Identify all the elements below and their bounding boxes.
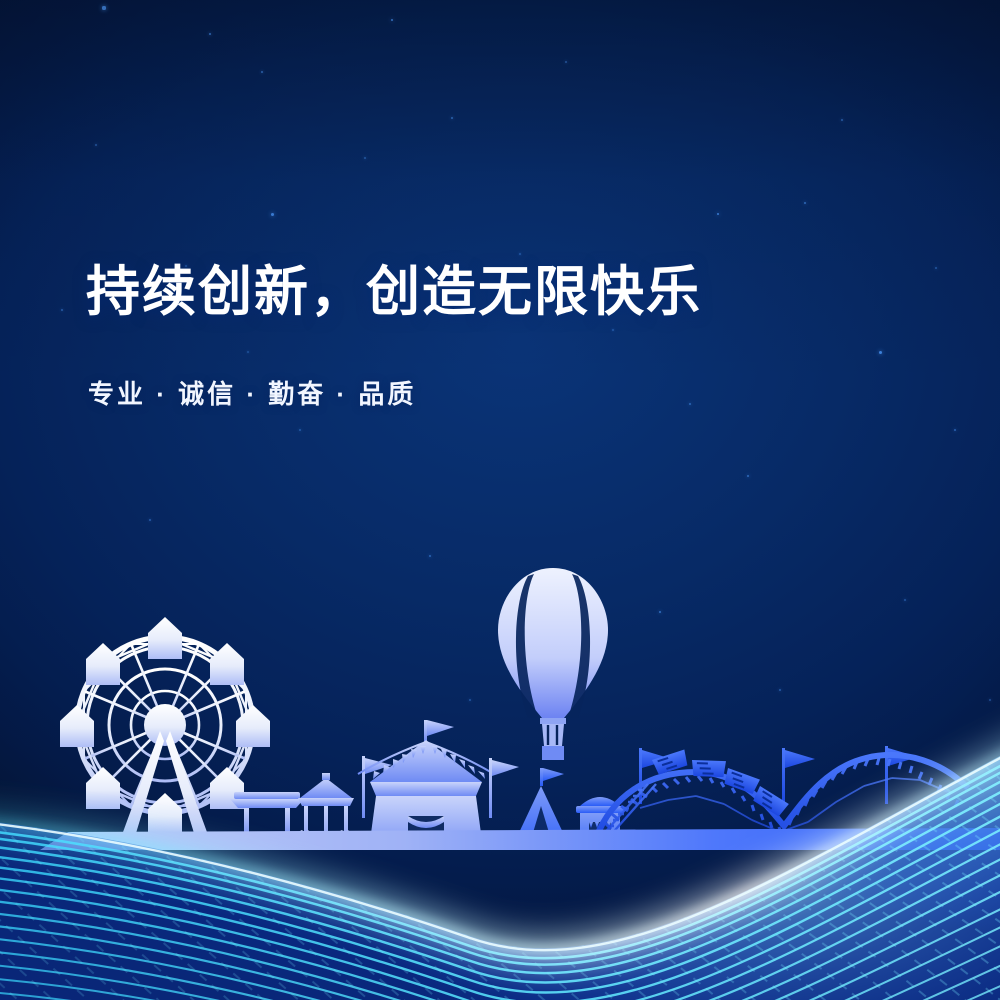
glowing-wave-mesh (0, 620, 1000, 1000)
hero-banner: 持续创新，创造无限快乐专业 · 诚信 · 勤奋 · 品质 (0, 0, 1000, 1000)
hero-headline: 持续创新，创造无限快乐 (86, 262, 702, 322)
hero-subtitle: 专业 · 诚信 · 勤奋 · 品质 (88, 374, 416, 411)
